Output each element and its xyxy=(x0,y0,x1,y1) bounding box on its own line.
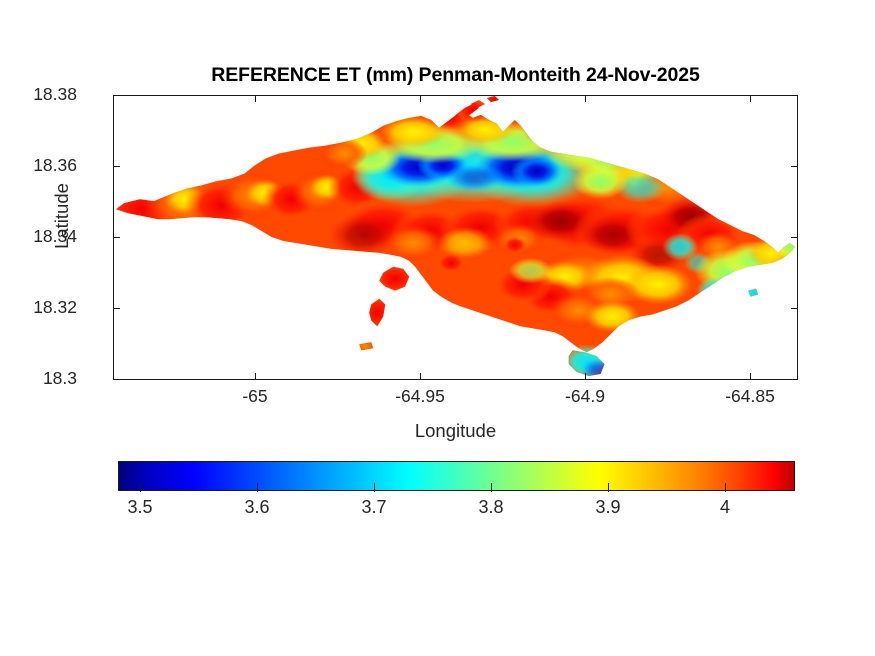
xtick-top-minus65 xyxy=(255,95,256,102)
ytick-right-18.32 xyxy=(791,308,798,309)
colorbar-label-5: 4 xyxy=(720,497,730,518)
et-heatmap xyxy=(114,96,797,379)
map-axes xyxy=(113,95,798,380)
colorbar-label-1: 3.6 xyxy=(244,497,269,518)
page-title: REFERENCE ET (mm) Penman-Monteith 24-Nov… xyxy=(113,64,798,87)
colorbar-tick-3.7 xyxy=(374,483,375,492)
xtick-minus64.85 xyxy=(750,373,751,380)
colorbar-label-4: 3.9 xyxy=(595,497,620,518)
ytick-label-1: 18.32 xyxy=(33,297,77,318)
xtick-minus64.9 xyxy=(585,373,586,380)
colorbar-label-3: 3.8 xyxy=(478,497,503,518)
colorbar-tick-3.9 xyxy=(608,483,609,492)
colorbar-tick-4 xyxy=(725,483,726,492)
xtick-top-minus64.95 xyxy=(420,95,421,102)
ytick-18.3 xyxy=(113,379,120,380)
ytick-right-18.36 xyxy=(791,166,798,167)
et-field xyxy=(114,96,797,379)
xtick-minus65 xyxy=(255,373,256,380)
colorbar-tick-3.6 xyxy=(257,483,258,492)
xtick-minus64.95 xyxy=(420,373,421,380)
xtick-label-2: -64.9 xyxy=(565,386,605,407)
xtick-label-1: -64.95 xyxy=(395,386,445,407)
xtick-top-minus64.9 xyxy=(585,95,586,102)
x-axis-label: Longitude xyxy=(113,420,798,442)
ytick-label-4: 18.38 xyxy=(33,84,77,105)
ytick-18.34 xyxy=(113,237,120,238)
colorbar-tick-3.8 xyxy=(491,483,492,492)
colorbar-label-0: 3.5 xyxy=(127,497,152,518)
xtick-label-0: -65 xyxy=(242,386,267,407)
ytick-18.36 xyxy=(113,166,120,167)
xtick-label-3: -64.85 xyxy=(725,386,775,407)
figure-canvas: REFERENCE ET (mm) Penman-Monteith 24-Nov… xyxy=(0,0,875,656)
colorbar-gradient xyxy=(118,461,795,491)
y-axis-label: Latitude xyxy=(51,136,73,296)
xtick-top-minus64.85 xyxy=(750,95,751,102)
ytick-18.32 xyxy=(113,308,120,309)
ytick-18.38 xyxy=(113,95,120,96)
colorbar-label-2: 3.7 xyxy=(361,497,386,518)
ytick-right-18.34 xyxy=(791,237,798,238)
colorbar xyxy=(118,461,795,491)
colorbar-tick-3.5 xyxy=(140,483,141,492)
ytick-label-0: 18.3 xyxy=(43,368,77,389)
